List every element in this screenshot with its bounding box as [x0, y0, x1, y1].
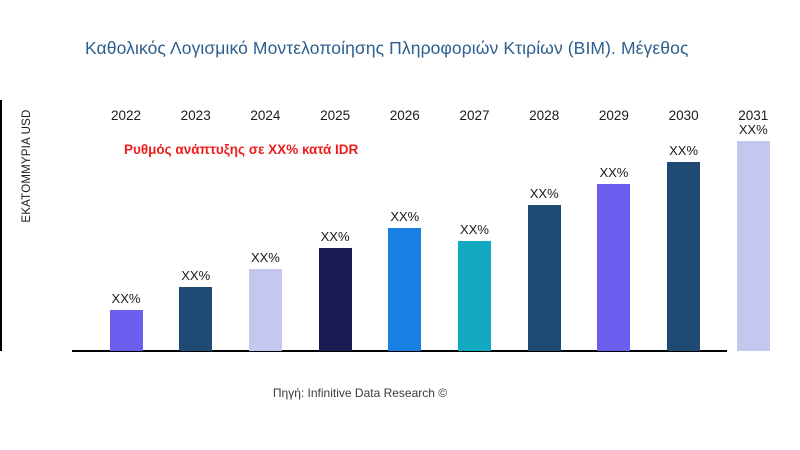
bar-2031[interactable]	[737, 141, 770, 351]
bim-market-size-bar-chart: Καθολικός Λογισμικό Μοντελοποίησης Πληρο…	[0, 0, 800, 450]
bar-2027[interactable]	[458, 241, 491, 351]
bar-2029[interactable]	[597, 184, 630, 351]
x-tick-label-2030: 2030	[669, 108, 699, 123]
source-note: Πηγή: Infinitive Data Research ©	[0, 386, 720, 400]
bar-2025[interactable]	[319, 248, 352, 351]
bar-group-2026: XX%2026	[388, 100, 421, 351]
bar-group-2022: XX%2022	[110, 100, 143, 351]
x-tick-label-2025: 2025	[320, 108, 350, 123]
x-tick-label-2023: 2023	[181, 108, 211, 123]
y-axis-label: ΕΚΑΤΟΜΜΥΡΙΑ USD	[21, 81, 33, 251]
x-tick-label-2029: 2029	[599, 108, 629, 123]
x-tick-label-2024: 2024	[250, 108, 280, 123]
x-tick-label-2022: 2022	[111, 108, 141, 123]
bar-value-label-2030: XX%	[669, 143, 698, 158]
bar-value-label-2023: XX%	[181, 268, 210, 283]
bar-group-2028: XX%2028	[528, 100, 561, 351]
bar-group-2025: XX%2025	[319, 100, 352, 351]
plot-area: XX%2022XX%2023XX%2024XX%2025XX%2026XX%20…	[72, 100, 800, 351]
chart-title: Καθολικός Λογισμικό Μοντελοποίησης Πληρο…	[85, 36, 800, 60]
bar-2022[interactable]	[110, 310, 143, 351]
x-tick-label-2028: 2028	[529, 108, 559, 123]
bar-2023[interactable]	[179, 287, 212, 351]
bar-2028[interactable]	[528, 205, 561, 351]
bar-group-2024: XX%2024	[249, 100, 282, 351]
bar-value-label-2022: XX%	[112, 291, 141, 306]
bar-2026[interactable]	[388, 228, 421, 351]
x-tick-label-2026: 2026	[390, 108, 420, 123]
bar-group-2027: XX%2027	[458, 100, 491, 351]
bar-group-2030: XX%2030	[667, 100, 700, 351]
bar-2024[interactable]	[249, 269, 282, 351]
bar-value-label-2026: XX%	[390, 209, 419, 224]
bar-value-label-2031: XX%	[739, 122, 768, 137]
bar-group-2023: XX%2023	[179, 100, 212, 351]
bar-value-label-2024: XX%	[251, 250, 280, 265]
bar-value-label-2029: XX%	[599, 165, 628, 180]
bar-value-label-2028: XX%	[530, 186, 559, 201]
x-tick-label-2031: 2031	[738, 108, 768, 123]
bar-value-label-2025: XX%	[321, 229, 350, 244]
bar-group-2031: XX%2031	[737, 100, 770, 351]
y-axis-line	[0, 100, 2, 351]
x-tick-label-2027: 2027	[459, 108, 489, 123]
bar-group-2029: XX%2029	[597, 100, 630, 351]
bar-value-label-2027: XX%	[460, 222, 489, 237]
bar-2030[interactable]	[667, 162, 700, 351]
